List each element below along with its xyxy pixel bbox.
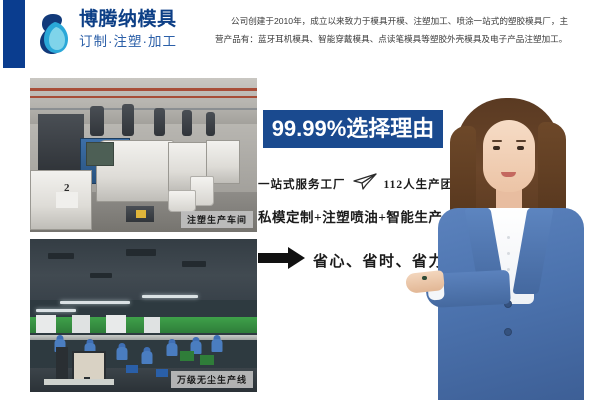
worker-body [212, 339, 223, 352]
worker-body [167, 343, 178, 356]
molding-machine-hopper-1 [38, 114, 84, 170]
intro-line-1: 公司创建于2010年，成立以来致力于模具开模、注塑加工、喷涂一站式的塑胶模具厂，… [215, 12, 593, 30]
line-station-panel-1 [36, 315, 56, 333]
intro-line-2: 营产品有：蓝牙耳机模具、智能穿戴模具、点读笔模具等塑胶外壳模具及电子产品注塑加工… [215, 30, 593, 48]
machine-column-4 [182, 110, 192, 136]
eye-right [517, 146, 524, 150]
worker-4 [138, 347, 156, 375]
company-logo[interactable]: 博腾纳模具 订制·注塑·加工 [33, 8, 205, 58]
process-highlight-row: 私模定制+注塑喷油+智能生产 [258, 206, 442, 226]
ceiling-vent-3 [182, 261, 206, 267]
ceiling-vent-1 [48, 253, 74, 259]
yellow-marker [136, 210, 146, 218]
businesswoman-presenter [420, 96, 600, 400]
ceiling-pipe-red [30, 88, 257, 91]
line-station-panel-3 [106, 315, 126, 333]
workstation-tower [56, 347, 68, 379]
ceiling-vent-4 [90, 273, 112, 278]
logo-text-block: 博腾纳模具 订制·注塑·加工 [79, 9, 205, 51]
blazer-button-2 [504, 328, 512, 336]
machine-column-5 [206, 112, 215, 136]
face [483, 120, 535, 192]
headline-banner-text: 99.99%选择理由 [272, 118, 435, 140]
machine-column-3 [154, 108, 165, 136]
shirt-button-1 [507, 236, 510, 239]
eyebrow-left [492, 140, 502, 142]
shirt-button-3 [507, 268, 510, 271]
service-factory-label: 一站式服务工厂 [258, 176, 346, 192]
logo-title: 博腾纳模具 [79, 9, 205, 31]
promotional-banner-page: 博腾纳模具 订制·注塑·加工 公司创建于2010年，成立以来致力于模具开模、注塑… [0, 0, 600, 400]
storage-bucket-2 [168, 190, 196, 212]
page-header: 博腾纳模具 订制·注塑·加工 公司创建于2010年，成立以来致力于模具开模、注塑… [0, 0, 600, 70]
line-station-panel-4 [144, 317, 160, 333]
eye-left [493, 146, 500, 150]
machine-window [86, 142, 114, 166]
shirt-button-2 [507, 252, 510, 255]
line-station-panel-2 [72, 315, 90, 333]
droplet-logo-icon [33, 12, 75, 56]
logo-subtitle: 订制·注塑·加工 [79, 33, 205, 51]
ceiling-lamp-1 [60, 301, 130, 304]
worker-5 [164, 339, 180, 363]
photo-caption-bottom: 万级无尘生产线 [171, 371, 253, 388]
headline-banner: 99.99%选择理由 [263, 110, 443, 148]
blue-stool-1 [126, 365, 138, 373]
paper-plane-icon [352, 172, 378, 195]
machine-label-sticker [56, 192, 78, 208]
right-arrow-icon [258, 246, 306, 275]
worker-3 [114, 343, 130, 367]
machine-column-2 [122, 104, 134, 136]
ceiling-pipe-red-2 [30, 96, 257, 98]
presenting-hand [405, 270, 445, 294]
ceiling-lamp-3 [36, 309, 76, 312]
ceiling-rail [30, 108, 257, 110]
green-crate-1 [180, 351, 194, 361]
monitor-desk [44, 379, 114, 385]
ceiling-vent-2 [126, 249, 156, 256]
blue-stool-2 [156, 369, 168, 377]
photo-caption-top: 注塑生产车间 [181, 211, 253, 228]
photo-dust-free-assembly-line: 万级无尘生产线 [30, 239, 257, 392]
accent-bar [3, 0, 25, 68]
benefit-highlight-row: 省心、省时、省力 [258, 246, 445, 275]
photo-injection-molding-workshop: 2 注塑生产车间 [30, 78, 257, 232]
machine-column-1 [90, 106, 104, 136]
green-crate-2 [200, 355, 214, 365]
worker-body [117, 347, 128, 360]
company-intro-text: 公司创建于2010年，成立以来致力于模具开模、注塑加工、喷涂一站式的塑胶模具厂，… [215, 12, 593, 48]
ceiling-lamp-2 [142, 295, 198, 298]
worker-body [142, 351, 153, 364]
eyebrow-right [516, 140, 526, 142]
fingernail [422, 276, 427, 280]
worker-7 [210, 335, 224, 355]
